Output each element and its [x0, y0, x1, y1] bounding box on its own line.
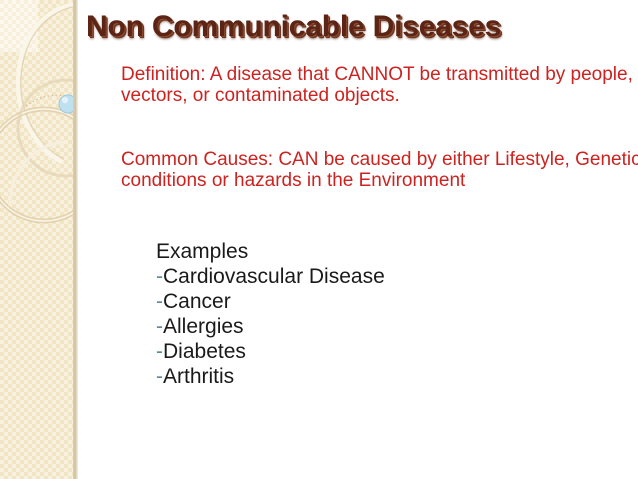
list-item-label: Cancer: [163, 290, 231, 313]
list-item: -Cardiovascular Disease: [156, 264, 385, 289]
definition-paragraph: Definition: A disease that CANNOT be tra…: [121, 64, 638, 106]
slide-canvas: Non Communicable Diseases Definition: A …: [0, 0, 638, 479]
dash-bullet: -: [156, 315, 163, 338]
list-item-label: Allergies: [163, 315, 244, 338]
dash-bullet: -: [156, 265, 163, 288]
list-item: -Cancer: [156, 289, 385, 314]
list-item-label: Cardiovascular Disease: [163, 265, 385, 288]
list-item-label: Diabetes: [163, 340, 246, 363]
list-item: -Allergies: [156, 314, 385, 339]
examples-heading: Examples: [156, 239, 385, 264]
common-causes-paragraph: Common Causes: CAN be caused by either L…: [121, 149, 638, 191]
list-item: -Diabetes: [156, 339, 385, 364]
dash-bullet: -: [156, 365, 163, 388]
dash-bullet: -: [156, 340, 163, 363]
examples-list: Examples -Cardiovascular Disease -Cancer…: [156, 239, 385, 389]
sidebar-edge-line: [73, 0, 78, 479]
dash-bullet: -: [156, 290, 163, 313]
list-item-label: Arthritis: [163, 365, 234, 388]
decorative-arcs: [0, 0, 78, 479]
list-item: -Arthritis: [156, 364, 385, 389]
slide-title: Non Communicable Diseases: [86, 10, 631, 44]
decorative-sidebar: [0, 0, 78, 479]
